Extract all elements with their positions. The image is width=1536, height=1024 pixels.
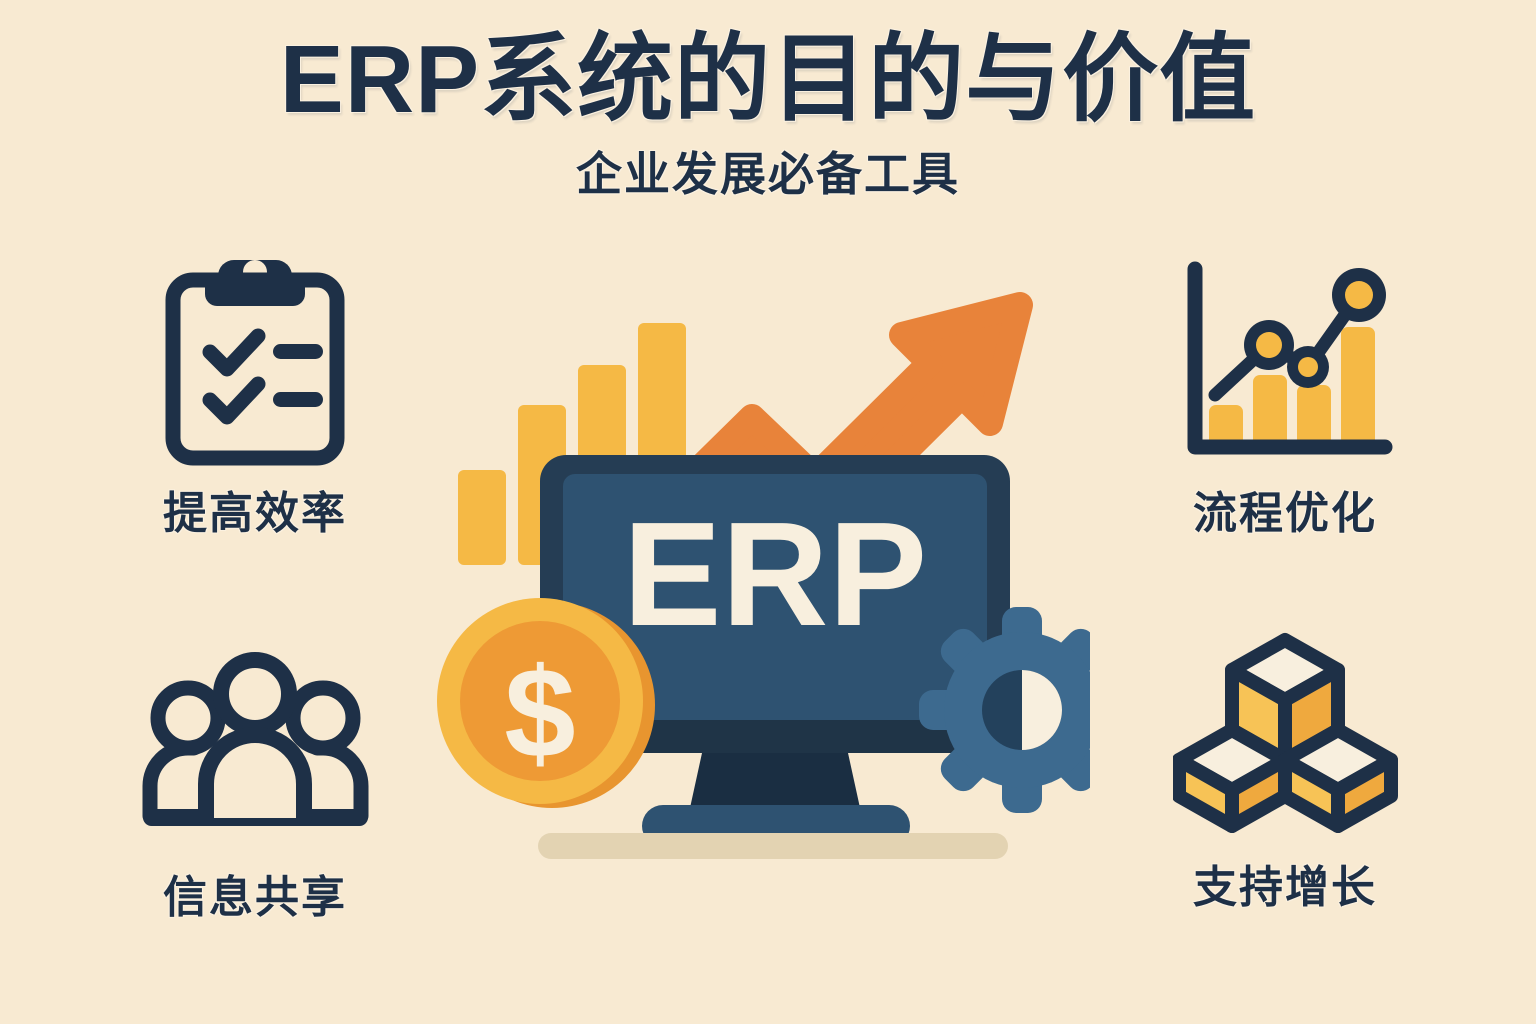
infographic-canvas: ERP系统的目的与价值 企业发展必备工具 提高: [0, 0, 1536, 1024]
icon-container: [1135, 252, 1435, 467]
icon-container: [105, 252, 405, 467]
feature-process-optimization[interactable]: 流程优化: [1135, 252, 1435, 541]
feature-improve-efficiency[interactable]: 提高效率: [105, 252, 405, 541]
stacked-cubes-icon: [1173, 626, 1398, 841]
feature-label: 信息共享: [105, 861, 405, 925]
feature-label: 提高效率: [105, 477, 405, 541]
clipboard-checklist-icon: [155, 252, 355, 467]
center-illustration: ERP $: [430, 265, 1090, 865]
header: ERP系统的目的与价值 企业发展必备工具: [0, 28, 1536, 204]
icon-container: [105, 636, 405, 851]
feature-label: 流程优化: [1135, 477, 1435, 541]
page-title: ERP系统的目的与价值: [0, 28, 1536, 132]
svg-text:$: $: [504, 642, 575, 785]
feature-support-growth[interactable]: 支持增长: [1135, 626, 1435, 915]
icon-container: [1135, 626, 1435, 841]
feature-information-sharing[interactable]: 信息共享: [105, 636, 405, 925]
bar-line-chart-icon: [1173, 257, 1398, 462]
ground-shadow: [538, 833, 1008, 859]
screen-erp-label: ERP: [623, 492, 927, 657]
feature-label: 支持增长: [1135, 851, 1435, 915]
people-group-icon: [138, 646, 373, 841]
page-subtitle: 企业发展必备工具: [0, 138, 1536, 204]
